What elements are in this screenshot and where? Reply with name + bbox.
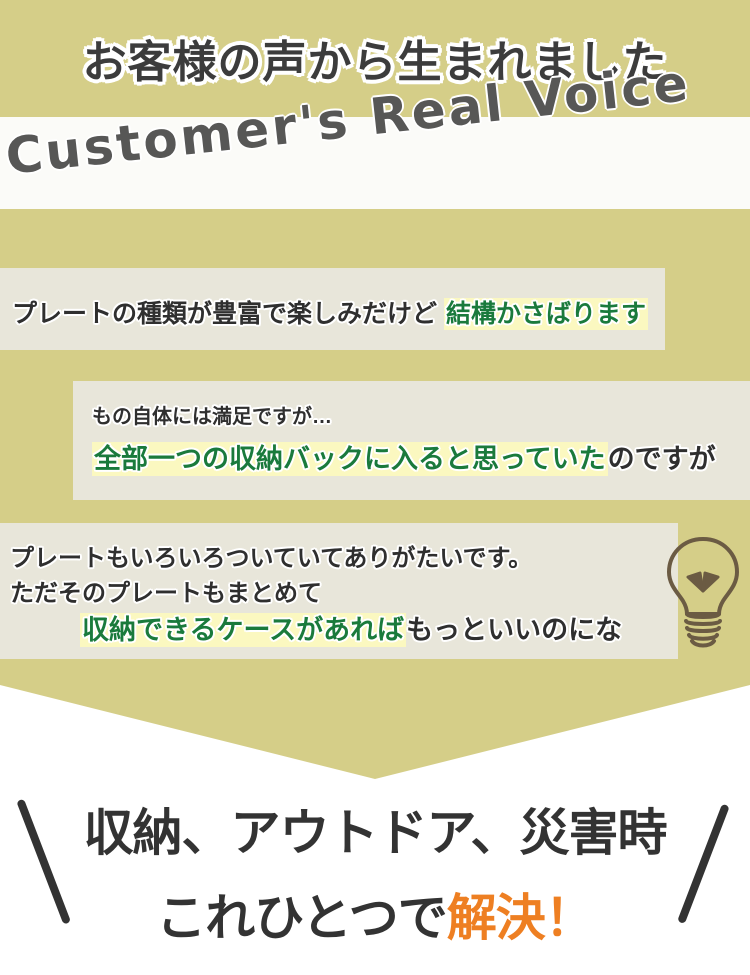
testimonial-2-highlight: 全部一つの収納バックに入ると思っていた	[92, 442, 608, 476]
testimonial-2-line-1: もの自体には満足ですが…	[92, 400, 332, 429]
footer-line-1: 収納、アウトドア、災害時	[0, 793, 750, 865]
footer-line-2-plain: これひとつで	[156, 890, 447, 946]
testimonial-3-line-3: 収納できるケースがあればもっといいのにな	[80, 608, 622, 647]
testimonial-1-text: プレートの種類が豊富で楽しみだけど 結構かさばります	[12, 294, 648, 330]
testimonial-2-tail: のですが	[608, 444, 716, 474]
testimonial-3-line-1: プレートもいろいろついていてありがたいです。	[10, 538, 532, 573]
footer-line-2-accent: 解決！	[447, 890, 594, 946]
testimonial-3-line-2: ただそのプレートもまとめて	[10, 573, 322, 608]
footer-line-2: これひとつで解決！	[0, 878, 750, 950]
testimonial-3-tail: もっといいのにな	[406, 615, 622, 645]
promo-banner: お客様の声から生まれました Customer's Real Voice プレート…	[0, 0, 750, 975]
lightbulb-icon	[658, 531, 748, 651]
testimonial-2-line-2: 全部一つの収納バックに入ると思っていたのですが	[92, 437, 716, 476]
testimonial-1-highlight: 結構かさばります	[444, 298, 648, 330]
testimonial-3-highlight: 収納できるケースがあれば	[80, 613, 406, 647]
testimonial-1-plain: プレートの種類が豊富で楽しみだけど	[12, 300, 437, 328]
